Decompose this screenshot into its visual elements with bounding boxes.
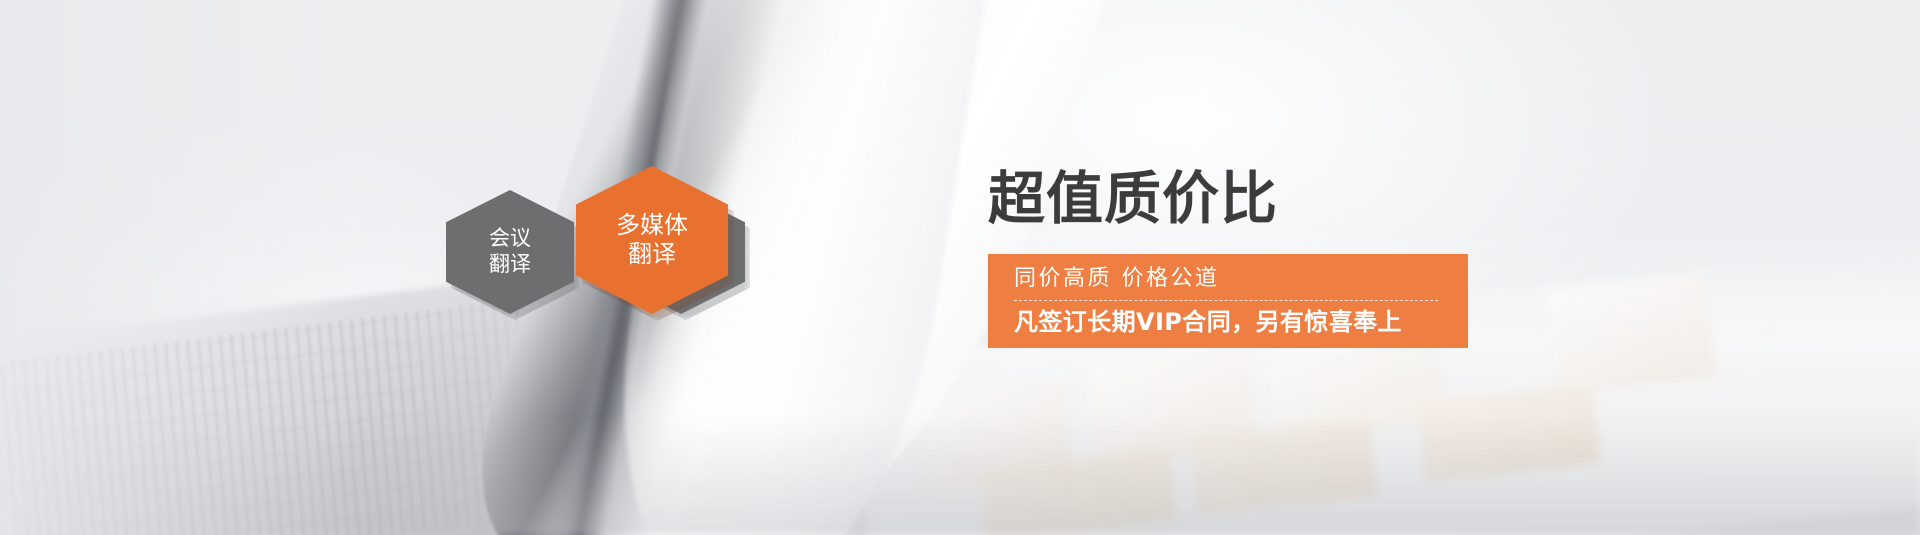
promo-line-2: 凡签订长期VIP合同，另有惊喜奉上 (1014, 307, 1468, 337)
hexagon-multimedia-line2: 翻译 (628, 240, 676, 269)
hexagon-multimedia-line1: 多媒体 (616, 211, 688, 240)
promo-line-1: 同价高质 价格公道 (1014, 265, 1468, 293)
headline: 超值质价比 (988, 168, 1278, 231)
promo-divider (1014, 300, 1438, 301)
promo-banner: 会议 翻译 陪同 翻译 多媒体 翻译 超值质价比 同价高质 价格公道 凡签订长期… (0, 0, 1920, 535)
magazine-thumbnail (1546, 273, 1716, 393)
left-vignette (0, 0, 360, 535)
promo-box: 同价高质 价格公道 凡签订长期VIP合同，另有惊喜奉上 (988, 254, 1468, 348)
hexagon-conference-line1: 会议 (489, 226, 531, 252)
hexagon-conference-line2: 翻译 (489, 252, 531, 278)
